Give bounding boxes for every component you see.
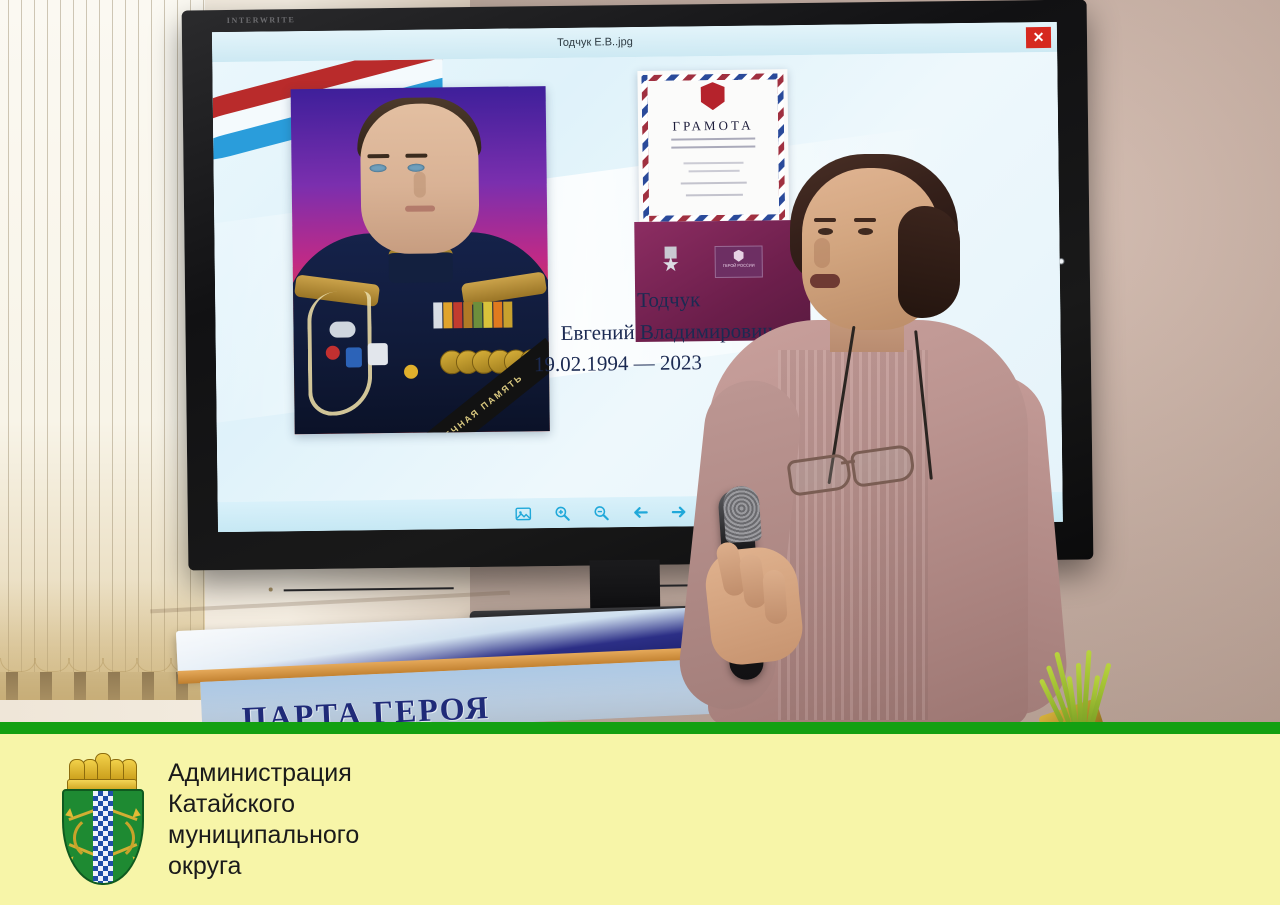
next-image-icon[interactable] <box>671 503 688 520</box>
zoom-out-icon[interactable] <box>593 504 610 521</box>
blind-slat <box>138 0 139 700</box>
medal-ribbon <box>493 302 502 328</box>
previous-image-icon[interactable] <box>632 503 649 520</box>
zoom-in-icon[interactable] <box>554 504 571 521</box>
organization-name: Администрация Катайского муниципального … <box>168 758 359 882</box>
crown-icon <box>67 759 135 793</box>
footer-divider <box>0 722 1280 734</box>
speaker-eye-left <box>818 228 833 235</box>
badge-cross-icon <box>368 343 388 365</box>
hem-scallop <box>136 658 172 672</box>
screenshot-root: INTERWRITE Тодчук Е.В..jpg ✕ <box>0 0 1280 905</box>
hem-scallop <box>34 658 70 672</box>
vertical-blinds <box>0 0 205 700</box>
org-line-2: Катайского <box>168 789 359 820</box>
blind-slat <box>164 0 165 700</box>
certificate-title: ГРАМОТА <box>638 117 788 135</box>
org-line-1: Администрация <box>168 758 359 789</box>
event-photograph: INTERWRITE Тодчук Е.В..jpg ✕ <box>0 0 1280 722</box>
radiator-fin <box>6 672 18 700</box>
medal-ribbon <box>453 302 462 328</box>
aiguillette <box>307 291 373 416</box>
radiator-fin <box>74 672 86 700</box>
blind-slat <box>99 0 100 700</box>
close-icon[interactable]: ✕ <box>1026 27 1051 48</box>
medal-ribbon <box>483 302 492 328</box>
bezel-button[interactable] <box>269 587 273 591</box>
shield-icon <box>62 789 144 885</box>
checkered-pale <box>93 791 113 883</box>
org-line-3: муниципального <box>168 820 359 851</box>
radiator-fin <box>108 672 120 700</box>
org-line-4: округа <box>168 851 359 882</box>
hem-scallop <box>0 658 36 672</box>
speaker-hair-side <box>898 206 960 318</box>
hem-scallop <box>102 658 138 672</box>
medal-ribbon <box>503 302 512 328</box>
medal-ribbon <box>463 302 472 328</box>
blind-slat <box>125 0 126 700</box>
medal-ribbon <box>443 302 452 328</box>
radiator-fin <box>40 672 52 700</box>
medal-ribbon <box>433 302 442 328</box>
speaker-eye-right <box>858 228 873 235</box>
badge-paratrooper-icon <box>329 321 355 337</box>
blind-slat <box>112 0 113 700</box>
hem-scallop <box>68 658 104 672</box>
badge-red-icon <box>326 346 340 360</box>
blind-slat <box>47 0 48 700</box>
fit-to-window-icon[interactable] <box>515 505 532 522</box>
medal-ribbon <box>473 302 482 328</box>
blind-slat <box>8 0 9 700</box>
blind-slat <box>151 0 152 700</box>
speaker-person <box>690 150 1050 722</box>
blind-slat <box>177 0 178 700</box>
blinds-hem <box>0 658 205 672</box>
badge-blue-icon <box>346 347 362 367</box>
blind-slat <box>73 0 74 700</box>
hero-star-medal-icon <box>663 246 679 268</box>
microphone-head <box>722 485 762 543</box>
blind-slat <box>86 0 87 700</box>
blind-slat <box>34 0 35 700</box>
badge-gold-icon <box>404 365 418 379</box>
window-title: Тодчук Е.В..jpg <box>557 36 633 49</box>
display-brand-label: INTERWRITE <box>227 15 296 25</box>
flower-bouquet <box>1035 630 1155 722</box>
blind-slat <box>21 0 22 700</box>
radiator <box>0 672 200 700</box>
officer-portrait: ВЕЧНАЯ ПАМЯТЬ <box>291 86 550 434</box>
coat-of-arms-emblem <box>58 759 144 881</box>
footer-brand-bar: Администрация Катайского муниципального … <box>0 734 1280 905</box>
blind-slat <box>60 0 61 700</box>
speaker-mouth <box>810 274 840 288</box>
radiator-fin <box>142 672 154 700</box>
